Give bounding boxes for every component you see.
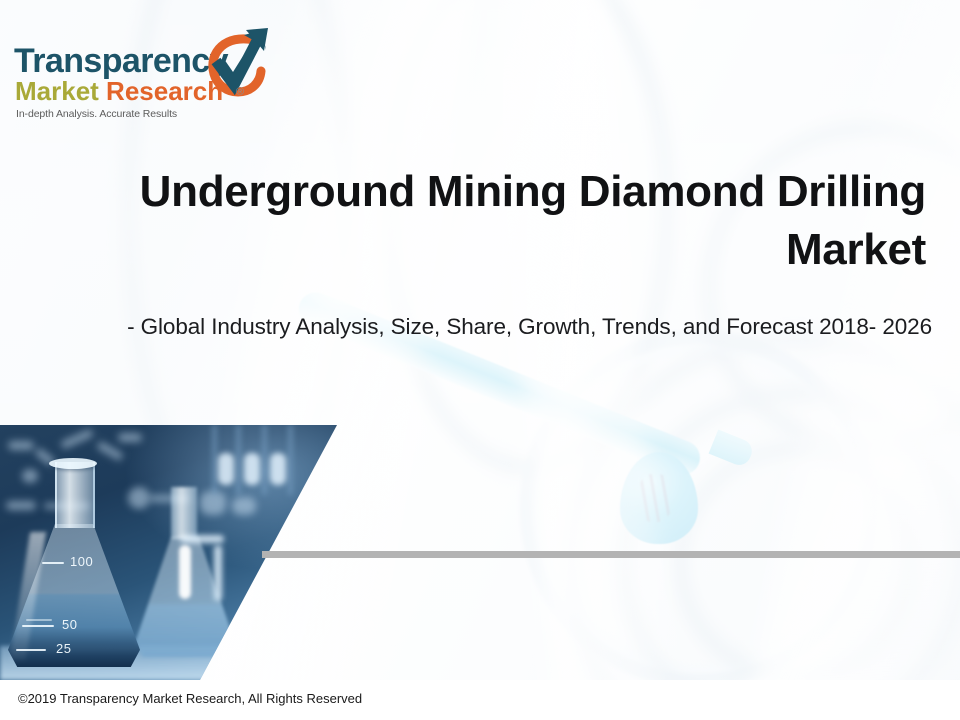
report-cover-slide: 100 50 25 Transparency Market Research I… (0, 0, 960, 720)
page-subtitle: - Global Industry Analysis, Size, Share,… (60, 314, 932, 340)
logo-wordmark-market-research: Market Research (15, 78, 223, 104)
logo-tagline: In-depth Analysis. Accurate Results (16, 108, 177, 120)
divider-rule (262, 551, 960, 558)
secondary-flask (135, 487, 235, 657)
flask-graduation-25: 25 (56, 641, 71, 656)
page-title: Underground Mining Diamond Drilling Mark… (60, 163, 926, 279)
brand-logo[interactable]: Transparency Market Research In-depth An… (14, 26, 264, 122)
erlenmeyer-flask: 100 50 25 (8, 462, 140, 667)
registered-trademark-icon: ® (236, 86, 244, 98)
logo-wordmark-transparency: Transparency (14, 44, 228, 78)
footer-bar: ©2019 Transparency Market Research, All … (0, 680, 960, 720)
copyright-text: ©2019 Transparency Market Research, All … (18, 691, 362, 706)
logo-word-market: Market (15, 76, 99, 106)
flask-graduation-50: 50 (62, 617, 77, 632)
flask-graduation-100: 100 (70, 554, 93, 569)
